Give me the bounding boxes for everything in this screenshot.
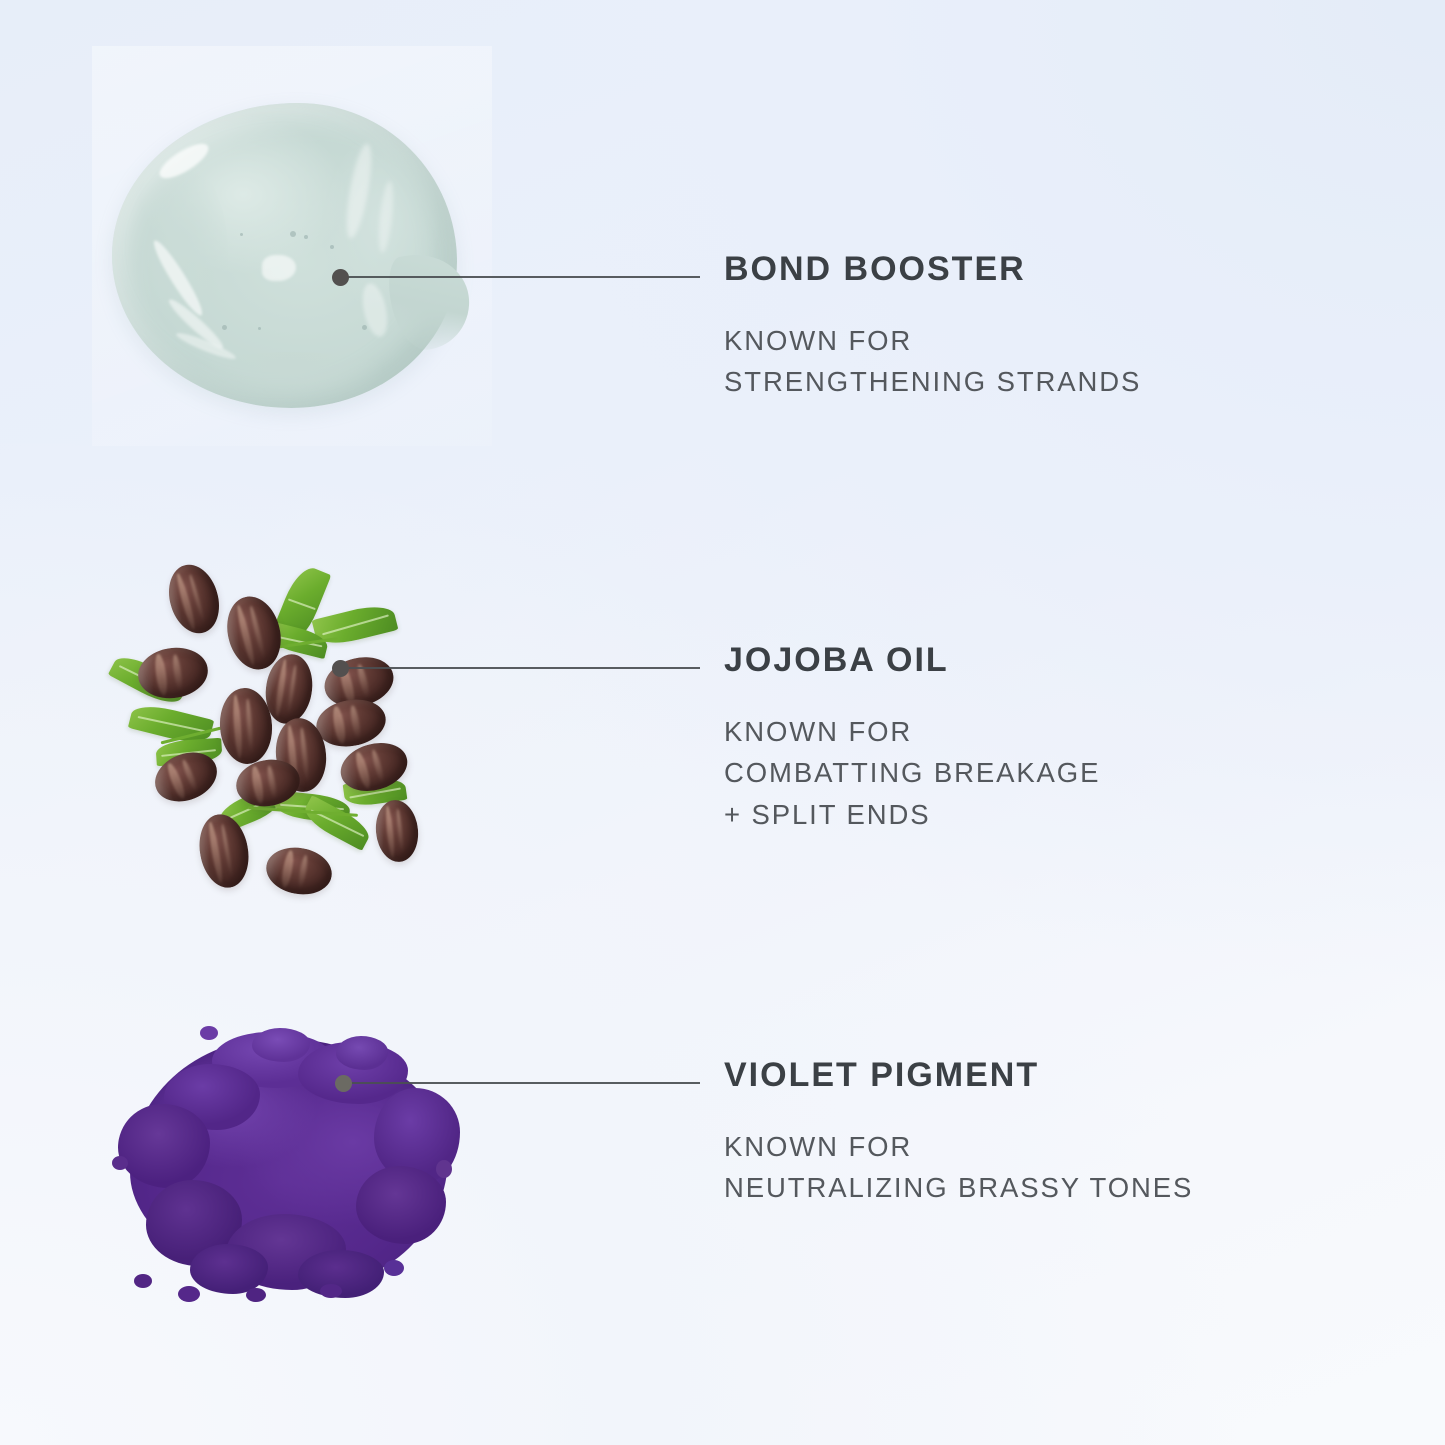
connector-line [340,276,700,278]
powder-clump [190,1244,268,1294]
bond-booster-gel-swatch [112,103,457,408]
description-line: KNOWN FOR [724,711,1100,752]
powder-clump [118,1104,210,1188]
gel-bubble [304,235,308,239]
gel-bubble [330,245,334,249]
powder-grain [320,1284,342,1298]
jojoba-seed [263,843,336,900]
connector-dot [335,1075,352,1092]
description-line: NEUTRALIZING BRASSY TONES [724,1167,1193,1208]
powder-grain [200,1026,218,1040]
powder-grain [134,1274,152,1288]
ingredient-text-jojoba-oil: JOJOBA OIL KNOWN FOR COMBATTING BREAKAGE… [724,643,1100,835]
ingredient-infographic: BOND BOOSTER KNOWN FOR STRENGTHENING STR… [0,0,1445,1445]
connector-bond-booster [332,267,708,287]
ingredient-title: JOJOBA OIL [724,643,1100,677]
ingredient-text-bond-booster: BOND BOOSTER KNOWN FOR STRENGTHENING STR… [724,252,1141,403]
ingredient-title: VIOLET PIGMENT [724,1058,1193,1092]
powder-clump [252,1028,310,1062]
powder-grain [112,1156,128,1170]
description-line: KNOWN FOR [724,320,1141,361]
connector-dot [332,660,349,677]
description-line: STRENGTHENING STRANDS [724,361,1141,402]
description-line: COMBATTING BREAKAGE [724,752,1100,793]
jojoba-seed [373,798,421,864]
connector-line [343,1082,700,1084]
powder-clump [356,1166,446,1244]
connector-violet-pigment [335,1073,708,1093]
gel-bubble [362,325,367,330]
jojoba-seeds-swatch [108,558,438,903]
description-line: + SPLIT ENDS [724,794,1100,835]
powder-grain [246,1288,266,1302]
description-line: KNOWN FOR [724,1126,1193,1167]
powder-grain [436,1160,452,1178]
gel-bottom-spread [190,352,390,422]
powder-grain [178,1286,200,1302]
gel-bubble [290,231,296,237]
ingredient-text-violet-pigment: VIOLET PIGMENT KNOWN FOR NEUTRALIZING BR… [724,1058,1193,1209]
jojoba-seed [161,559,226,640]
connector-dot [332,269,349,286]
gel-bubble [240,233,243,236]
ingredient-description: KNOWN FOR STRENGTHENING STRANDS [724,320,1141,403]
powder-grain [384,1260,404,1276]
powder-clump [336,1036,388,1070]
connector-jojoba-oil [332,658,708,678]
ingredient-title: BOND BOOSTER [724,252,1141,286]
ingredient-description: KNOWN FOR NEUTRALIZING BRASSY TONES [724,1126,1193,1209]
ingredient-description: KNOWN FOR COMBATTING BREAKAGE + SPLIT EN… [724,711,1100,835]
gel-bubble [222,325,227,330]
connector-line [340,667,700,669]
gel-bubble [258,327,261,330]
